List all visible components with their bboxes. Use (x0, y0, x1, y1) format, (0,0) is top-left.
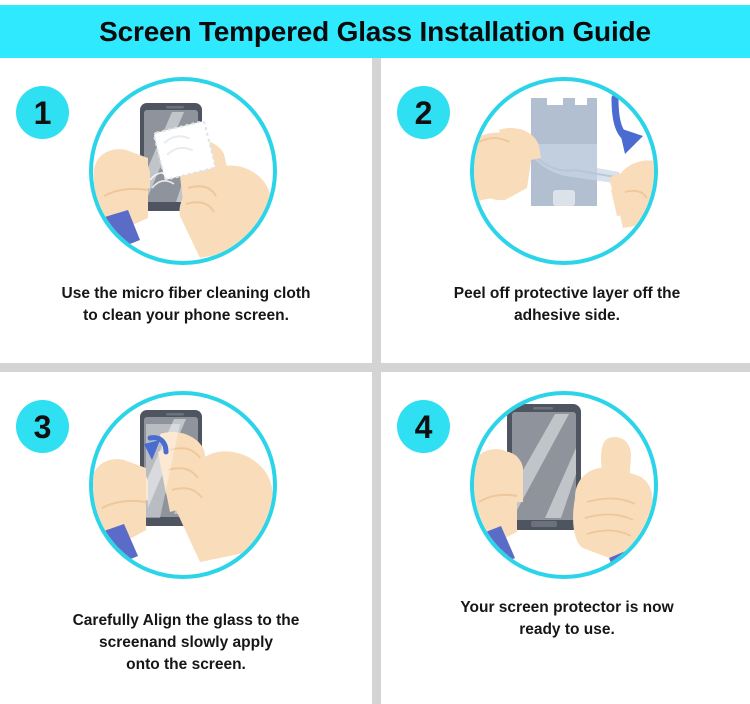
caption-line: ready to use. (397, 619, 737, 641)
hands-peeling-protective-film-icon (469, 76, 659, 266)
header-banner: Screen Tempered Glass Installation Guide (0, 5, 750, 58)
step-number-1: 1 (34, 97, 52, 129)
step-caption-1: Use the micro fiber cleaning cloth to cl… (16, 283, 356, 327)
hand-holding-phone-thumbs-up-icon (469, 390, 659, 580)
horizontal-divider (0, 363, 750, 372)
step-badge-4: 4 (397, 400, 450, 453)
step-badge-3: 3 (16, 400, 69, 453)
hand-aligning-glass-on-phone-icon (88, 390, 278, 580)
step-panel-3: 3 (0, 372, 372, 704)
step-panel-4: 4 (381, 372, 750, 704)
step-number-4: 4 (415, 411, 433, 443)
caption-line: adhesive side. (397, 305, 737, 327)
step-caption-2: Peel off protective layer off the adhesi… (397, 283, 737, 327)
caption-line: Your screen protector is now (397, 597, 737, 619)
step-badge-1: 1 (16, 86, 69, 139)
caption-line: screenand slowly apply (16, 632, 356, 654)
caption-line: onto the screen. (16, 654, 356, 676)
hand-cleaning-phone-with-cloth-icon (88, 76, 278, 266)
step-number-3: 3 (34, 411, 52, 443)
step-badge-2: 2 (397, 86, 450, 139)
step-number-2: 2 (415, 97, 433, 129)
step-panel-2: 2 (381, 58, 750, 363)
caption-line: to clean your phone screen. (16, 305, 356, 327)
caption-line: Carefully Align the glass to the (16, 610, 356, 632)
step-caption-4: Your screen protector is now ready to us… (397, 597, 737, 641)
caption-line: Peel off protective layer off the (397, 283, 737, 305)
caption-line: Use the micro fiber cleaning cloth (16, 283, 356, 305)
vertical-divider (372, 58, 381, 704)
page-title: Screen Tempered Glass Installation Guide (99, 16, 651, 48)
steps-grid: 1 (0, 58, 750, 704)
step-panel-1: 1 (0, 58, 372, 363)
step-caption-3: Carefully Align the glass to the screena… (16, 610, 356, 676)
